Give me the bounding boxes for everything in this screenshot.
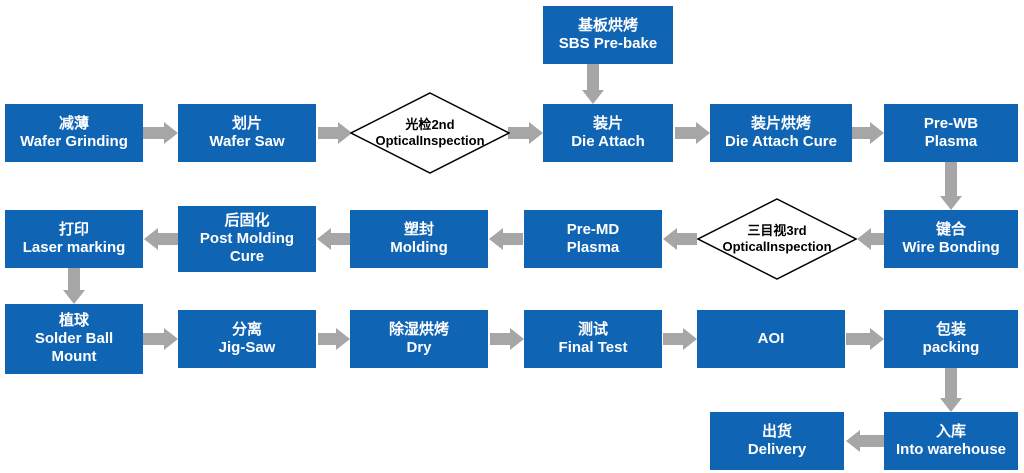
node-solder-ball-mount: 植球Solder BallMount [5,304,143,374]
node-delivery: 出货Delivery [710,412,844,470]
node-label-cn: 塑封 [404,221,434,239]
diamond-label: 三目视3rd OpticalInspection [697,223,857,254]
node-label-en: Dry [406,339,431,357]
node-wafer-saw: 划片Wafer Saw [178,104,316,162]
node-label-cn: 除湿烘烤 [389,321,449,339]
node-label-en2: Inspection [420,133,485,148]
node-label-en: Delivery [748,441,806,459]
node-label-cn: 测试 [578,321,608,339]
node-laser-marking: 打印Laser marking [5,210,143,268]
arrow-grinding-to-saw [143,122,178,144]
node-pre-md-plasma: Pre-MDPlasma [524,210,662,268]
node-label-cn: 包装 [936,321,966,339]
node-label-cn: 植球 [59,312,89,330]
arrow-2nd-optical-to-die-attach [508,122,543,144]
node-label-en2: Mount [52,348,97,366]
arrow-pre-md-to-molding [489,228,523,250]
node-wire-bonding: 键合Wire Bonding [884,210,1018,268]
node-label-en: Plasma [925,133,978,151]
node-label-en: SBS Pre-bake [559,35,657,53]
node-label-en: Solder Ball [35,330,113,348]
node-label-en: Die Attach [571,133,645,151]
arrow-aoi-to-packing [846,328,884,350]
node-label-cn: 基板烘烤 [578,17,638,35]
arrow-cure-to-pre-wb [852,122,884,144]
node-label-cn: 光检 [405,117,431,132]
arrow-pre-wb-to-wire-bonding [940,162,962,210]
node-label-en: Jig-Saw [219,339,276,357]
arrow-final-test-to-aoi [663,328,697,350]
node-label-en: packing [923,339,980,357]
arrow-wire-bonding-to-3rd [857,228,885,250]
node-final-test: 测试Final Test [524,310,662,368]
arrow-solder-ball-to-jig-saw [143,328,178,350]
node-label-cn: 入库 [936,423,966,441]
arrow-jig-saw-to-dry [318,328,350,350]
node-label-cn: Pre-WB [924,115,978,133]
node-label-cn: 打印 [59,221,89,239]
arrow-warehouse-to-delivery [846,430,884,452]
node-label-cn: 分离 [232,321,262,339]
node-label-en: Wire Bonding [902,239,999,257]
arrow-die-attach-to-cure [675,122,710,144]
node-into-warehouse: 入库Into warehouse [884,412,1018,470]
node-label-cn: 三目视 [747,223,786,238]
node-label-en: AOI [758,330,785,348]
node-wafer-grinding: 减薄Wafer Grinding [5,104,143,162]
node-packing: 包装packing [884,310,1018,368]
node-post-molding-cure: 后固化Post MoldingCure [178,206,316,272]
arrow-post-cure-to-marking [144,228,178,250]
node-label-en: Final Test [559,339,628,357]
node-label-en: Plasma [567,239,620,257]
node-label-en: Post Molding [200,230,294,248]
node-pre-wb-plasma: Pre-WBPlasma [884,104,1018,162]
node-jig-saw: 分离Jig-Saw [178,310,316,368]
node-label-en: Laser marking [23,239,126,257]
node-molding: 塑封Molding [350,210,488,268]
node-label-en: Into warehouse [896,441,1006,459]
node-label-cn: 减薄 [59,115,89,133]
diamond-label: 光检2nd OpticalInspection [350,117,510,148]
node-dry: 除湿烘烤Dry [350,310,488,368]
node-label-en2: Inspection [767,239,832,254]
node-label-en: Wafer Saw [209,133,284,151]
arrow-molding-to-post-cure [317,228,350,250]
arrow-marking-to-solder-ball [63,268,85,304]
arrow-packing-to-warehouse [940,368,962,412]
arrow-dry-to-final-test [490,328,524,350]
process-flow-diagram: 基板烘烤SBS Pre-bake减薄Wafer Grinding划片Wafer … [0,0,1024,473]
arrow-3rd-to-pre-md [663,228,697,250]
node-label-cn: 后固化 [224,212,269,230]
node-label-en: Molding [390,239,447,257]
node-sbs-pre-bake: 基板烘烤SBS Pre-bake [543,6,673,64]
node-3rd-optical-inspection: 三目视3rd OpticalInspection [697,198,857,280]
node-label-cn: 键合 [936,221,966,239]
node-aoi: AOI [697,310,845,368]
node-die-attach: 装片Die Attach [543,104,673,162]
node-2nd-optical-inspection: 光检2nd OpticalInspection [350,92,510,174]
node-die-attach-cure: 装片烘烤Die Attach Cure [710,104,852,162]
node-label-en: Wafer Grinding [20,133,128,151]
node-label-en2: Cure [230,248,264,266]
node-label-cn: 装片 [593,115,623,133]
node-label-cn: 出货 [762,423,792,441]
node-label-cn: Pre-MD [567,221,620,239]
arrow-saw-to-2nd-optical [318,122,352,144]
node-label-en: Die Attach Cure [725,133,837,151]
arrow-sbs-to-die-attach [582,64,604,104]
node-label-cn: 装片烘烤 [751,115,811,133]
node-label-cn: 划片 [232,115,262,133]
